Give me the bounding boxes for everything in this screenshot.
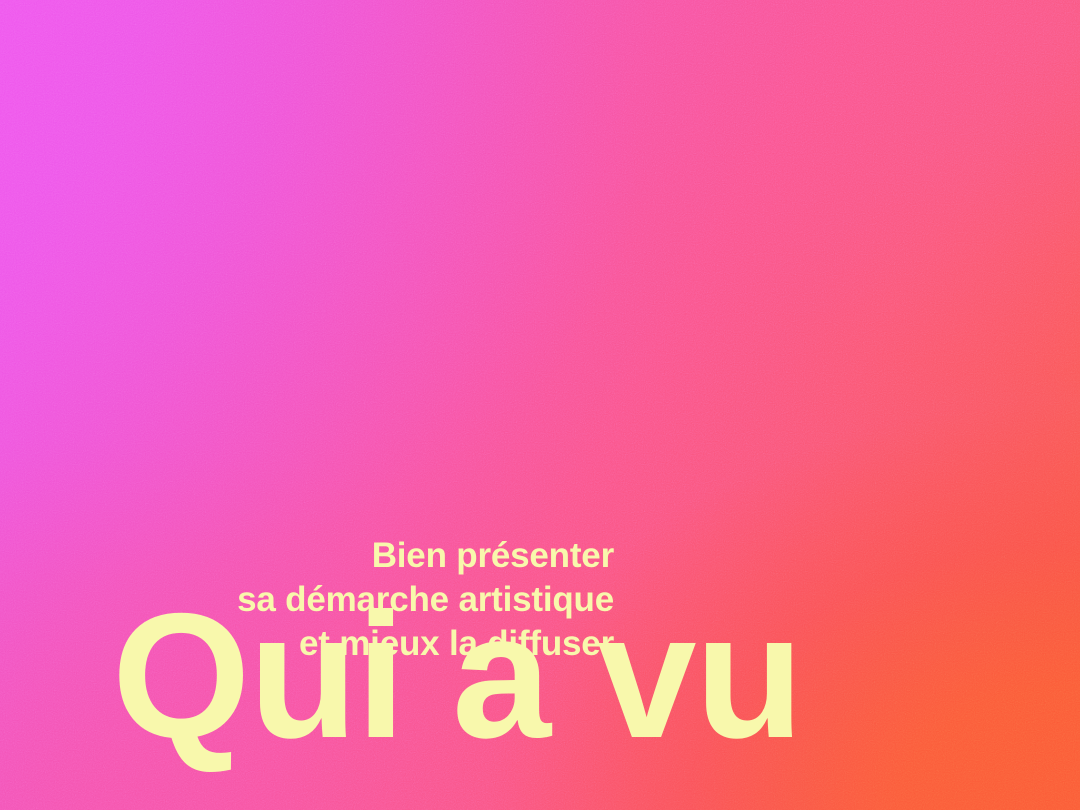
page-title: Qui a vu verra: [112, 237, 1012, 810]
poster-content: Qui a vu verra Bien présenter sa démarch…: [0, 0, 1080, 810]
subtitle: Bien présenter sa démarche artistique et…: [120, 534, 614, 666]
poster-slide: Qui a vu verra Bien présenter sa démarch…: [0, 0, 1080, 810]
subtitle-line-2: sa démarche artistique: [120, 578, 614, 622]
subtitle-line-1: Bien présenter: [120, 534, 614, 578]
subtitle-line-3: et mieux la diffuser: [120, 622, 614, 666]
